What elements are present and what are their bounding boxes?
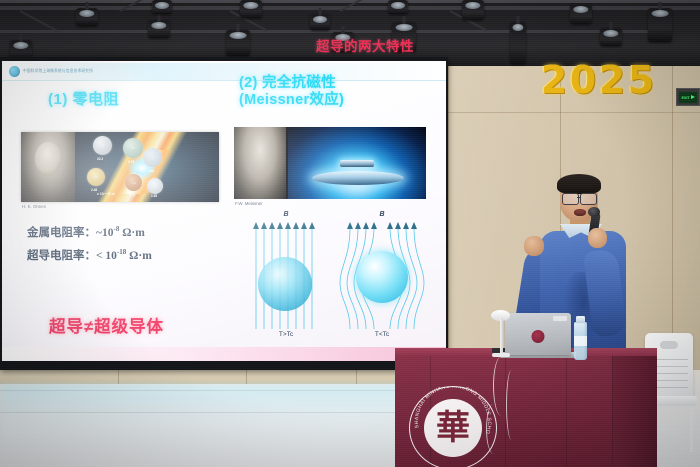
coin-value: 1.75 xyxy=(129,193,135,197)
stage-light xyxy=(148,20,170,38)
stage-light xyxy=(76,8,98,26)
meissner-diagram: B xyxy=(242,211,432,339)
coin-value: 9.75 xyxy=(128,160,134,164)
projection-screen: 中国科学院上海微系统与信息技术研究所 (1) 零电阻 (2) 完全抗磁性 (Me… xyxy=(0,57,448,370)
fiber-unit-label: x 10⁻⁶ Ω·m xyxy=(97,192,115,196)
stage-light xyxy=(240,0,262,18)
slide-divider xyxy=(2,80,446,81)
coin-value: 22.2 xyxy=(97,157,103,161)
slide-footer-bar xyxy=(2,347,446,361)
onnes-photo: Pt 22.2 Fe 9.75 Al 2.83 Au 2.48 Cu 1.75 … xyxy=(21,132,219,202)
element-coin: Al xyxy=(143,148,162,167)
element-coin: Cu xyxy=(125,174,142,191)
slide-heading-2: (2) 完全抗磁性 (Meissner效应) xyxy=(239,75,344,109)
onnes-caption: H. K. Onnes xyxy=(22,204,46,209)
slide-surface: 中国科学院上海微系统与信息技术研究所 (1) 零电阻 (2) 完全抗磁性 (Me… xyxy=(2,61,446,361)
school-emblem: SHANGHAI MINHANG XINSONG MIDDLE SCHOOL 華 xyxy=(409,386,497,467)
sc-resistivity-exp: -18 xyxy=(117,248,126,256)
meissner-caption: F.W. Meissner xyxy=(235,201,263,206)
element-coin: Au xyxy=(87,168,105,186)
metal-resistivity-value: ~10 xyxy=(96,227,113,239)
presenter-right-hand xyxy=(588,228,607,248)
balloon-digit: 5 xyxy=(627,58,655,104)
power-cable xyxy=(486,404,501,454)
exit-sign-label: EXIT xyxy=(681,95,689,100)
exit-arrow-icon xyxy=(691,95,695,99)
institute-name: 中国科学院上海微系统与信息技术研究所 xyxy=(23,69,93,75)
slide-bottom-statement: 超导≠超级导体 xyxy=(49,313,164,337)
sc-resistivity-line: 超导电阻率：< 10-18 Ω·m xyxy=(27,247,152,263)
meissner-portrait xyxy=(234,127,286,199)
stage-light xyxy=(600,28,622,46)
sc-resistivity-label: 超导电阻率： xyxy=(27,250,96,262)
presenter-mouth xyxy=(574,209,586,216)
glasses-bridge-icon xyxy=(577,197,580,198)
microphone-head-icon xyxy=(588,207,600,217)
superconductor-disc xyxy=(312,171,404,185)
coin-value: 2.83 xyxy=(148,169,154,173)
stage-light xyxy=(510,22,526,64)
stage-light xyxy=(310,14,330,30)
sc-resistivity-unit: Ω·m xyxy=(126,250,152,262)
slide-org-banner: 中国科学院上海微系统与信息技术研究所 xyxy=(6,63,155,81)
balloon-digit: 0 xyxy=(569,58,597,104)
element-coin: Pt xyxy=(93,136,112,155)
glasses-left-lens-icon xyxy=(562,193,579,205)
stage-light xyxy=(152,0,172,14)
balloon-digit: 2 xyxy=(540,58,568,104)
state-label-right: T<Tc xyxy=(375,331,389,338)
power-cable xyxy=(506,370,517,440)
desk-lamp-stem xyxy=(500,318,503,356)
normal-state-sphere xyxy=(258,257,312,311)
slide-title: 超导的两大特性 xyxy=(316,35,414,55)
laptop-sticker xyxy=(553,316,567,321)
slide-heading-2-line2: (Meissner效应) xyxy=(239,92,344,109)
laptop[interactable] xyxy=(505,313,571,355)
glasses-right-lens-icon xyxy=(580,193,597,205)
levitating-magnet xyxy=(340,160,374,167)
stage-light xyxy=(388,0,408,14)
balloon-digit: 2 xyxy=(598,58,626,104)
metal-resistivity-line: 金属电阻率：~10-8 Ω·m xyxy=(27,224,145,240)
superconducting-sphere xyxy=(356,251,408,303)
metal-resistivity-unit: Ω·m xyxy=(119,227,145,239)
exit-sign: EXIT xyxy=(676,88,700,106)
sc-resistivity-value: < 10 xyxy=(96,250,117,262)
table-side-drape xyxy=(612,356,657,467)
coin-value: 1.65 xyxy=(151,194,157,198)
diagram-cell-normal: B xyxy=(242,211,330,339)
diagram-cell-superconducting: B xyxy=(338,211,426,339)
element-coin: Fe xyxy=(123,138,143,158)
stage-skirting xyxy=(0,370,448,384)
balloon-decoration-2025: 2 0 2 5 xyxy=(540,58,658,106)
wall-seam xyxy=(448,60,449,370)
water-bottle-cap xyxy=(576,316,585,323)
element-coin: Ag xyxy=(147,178,163,194)
chair-handle-slot xyxy=(660,341,678,349)
wall-seam xyxy=(448,112,700,113)
meissner-photo xyxy=(234,127,426,199)
state-label-left: T>Tc xyxy=(279,331,293,338)
slide-heading-1: (1) 零电阻 xyxy=(48,88,119,109)
presenter-hair xyxy=(557,174,601,194)
onnes-portrait xyxy=(21,132,75,202)
school-name-arc: SHANGHAI MINHANG XINSONG MIDDLE SCHOOL xyxy=(410,387,492,435)
institute-logo-icon xyxy=(9,66,20,77)
laptop-brand-logo-icon xyxy=(532,330,545,343)
school-emblem-ring-text: SHANGHAI MINHANG XINSONG MIDDLE SCHOOL xyxy=(410,387,496,467)
presenter-raised-fist xyxy=(524,236,544,256)
lecture-hall-photo: 2 0 2 5 EXIT 中国科学院上海微系统与信息技术研究所 (1) 零电阻 … xyxy=(0,0,700,467)
stage-light xyxy=(570,4,592,24)
stage-light xyxy=(648,8,672,42)
floor-light-reflection xyxy=(0,384,420,464)
water-bottle-label xyxy=(574,336,587,346)
stage-light xyxy=(462,0,484,20)
slide-heading-2-line1: (2) 完全抗磁性 xyxy=(239,75,344,92)
levitation-photo xyxy=(288,127,426,199)
stage-light xyxy=(226,30,250,56)
metal-resistivity-label: 金属电阻率： xyxy=(27,227,96,239)
